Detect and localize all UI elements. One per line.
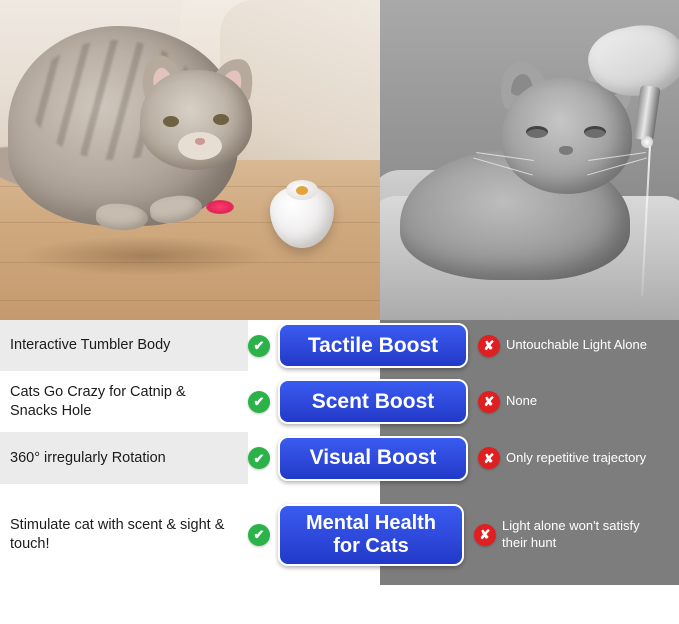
benefit-badge: Tactile Boost <box>278 323 468 368</box>
check-icon: ✔ <box>248 447 270 469</box>
benefit-badge-line: for Cats <box>306 535 436 558</box>
feature-label: Cats Go Crazy for Catnip & Snacks Hole <box>0 371 248 432</box>
drawback-label: Only repetitive trajectory <box>506 450 646 466</box>
photo-band <box>0 0 679 320</box>
cat-muzzle <box>178 132 222 160</box>
right-column-bottom-filler <box>380 585 679 624</box>
gray-cat-head <box>502 78 632 194</box>
cat-eye <box>163 116 179 127</box>
feature-label: Interactive Tumbler Body <box>0 320 248 371</box>
cross-icon: ✘ <box>478 335 500 357</box>
cross-icon: ✘ <box>474 524 496 546</box>
table-row: Stimulate cat with scent & sight & touch… <box>0 484 679 585</box>
comparison-table: Interactive Tumbler Body ✔ Tactile Boost… <box>0 320 679 624</box>
benefit-badge: Visual Boost <box>278 436 468 481</box>
photo-cat-with-laser-pointer <box>380 0 679 320</box>
cat-nose <box>195 138 205 145</box>
table-row: Interactive Tumbler Body ✔ Tactile Boost… <box>0 320 679 371</box>
gray-cat-eye <box>526 126 548 138</box>
photo-kitten-with-tumbler-toy <box>0 0 380 320</box>
gray-cat-nose <box>559 146 573 155</box>
benefit-badge-line: Visual Boost <box>310 446 437 470</box>
cross-icon: ✘ <box>478 447 500 469</box>
check-icon: ✔ <box>248 391 270 413</box>
gray-cat-eye <box>584 126 606 138</box>
cat-eye <box>213 114 229 125</box>
cat-shadow <box>20 236 270 276</box>
drawback-label: Light alone won't satisfy their hunt <box>502 518 652 551</box>
floor-plank-line <box>0 300 380 301</box>
check-icon: ✔ <box>248 524 270 546</box>
check-icon: ✔ <box>248 335 270 357</box>
benefit-badge-line: Mental Health <box>306 512 436 535</box>
drawback-label: Untouchable Light Alone <box>506 337 647 353</box>
feature-label: Stimulate cat with scent & sight & touch… <box>0 484 248 585</box>
table-row: 360° irregularly Rotation ✔ Visual Boost… <box>0 432 679 484</box>
benefit-badge: Scent Boost <box>278 379 468 424</box>
product-comparison-infographic: Interactive Tumbler Body ✔ Tactile Boost… <box>0 0 679 624</box>
cross-icon: ✘ <box>478 391 500 413</box>
feature-label: 360° irregularly Rotation <box>0 432 248 484</box>
benefit-badge-line: Scent Boost <box>312 390 435 414</box>
benefit-badge-line: Tactile Boost <box>308 334 438 358</box>
laser-pointer-tip <box>641 136 653 148</box>
red-light-dot <box>206 200 234 214</box>
tumbler-toy-light <box>296 186 308 195</box>
table-row: Cats Go Crazy for Catnip & Snacks Hole ✔… <box>0 371 679 432</box>
benefit-badge: Mental Health for Cats <box>278 504 464 566</box>
drawback-label: None <box>506 393 537 409</box>
